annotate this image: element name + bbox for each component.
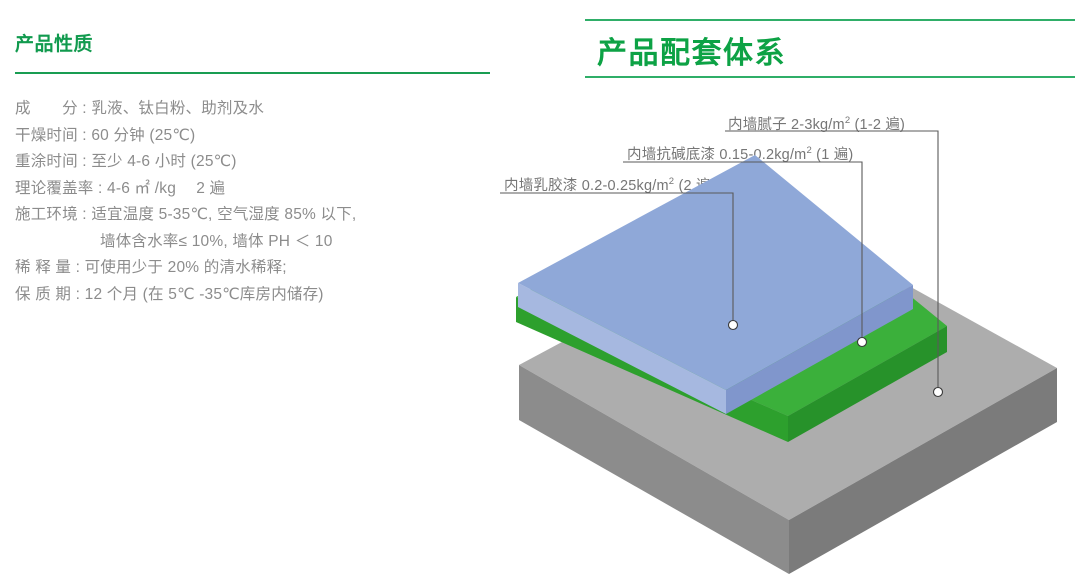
annotation-label-putty: 内墙腻子 2-3kg/m2 (1-2 遍) xyxy=(728,113,905,134)
annotation-latex-coats: (2 遍) xyxy=(674,178,715,194)
left-panel-heading: 产品性质 xyxy=(15,29,93,56)
right-panel-heading: 产品配套体系 xyxy=(597,28,786,72)
spec-line-drying-time: 干燥时间 : 60 分钟 (25℃) xyxy=(15,123,515,150)
annotation-primer-coats: (1 遍) xyxy=(812,147,853,163)
spec-line-composition: 成 分 : 乳液、钛白粉、助剂及水 xyxy=(15,96,515,123)
annotation-primer-text: 内墙抗碱底漆 0.15-0.2kg/m xyxy=(627,147,806,163)
annotation-latex-text: 内墙乳胶漆 0.2-0.25kg/m xyxy=(504,178,669,194)
product-spec-list: 成 分 : 乳液、钛白粉、助剂及水 干燥时间 : 60 分钟 (25℃) 重涂时… xyxy=(15,96,515,308)
annotation-putty-text: 内墙腻子 2-3kg/m xyxy=(728,117,845,133)
spec-line-application-env: 施工环境 : 适宜温度 5-35℃, 空气湿度 85% 以下, xyxy=(15,202,515,229)
annotation-putty-coats: (1-2 遍) xyxy=(850,117,905,133)
spec-line-coverage-rate: 理论覆盖率 : 4-6 ㎡ /kg 2 遍 xyxy=(15,176,515,203)
product-system-panel: 产品配套体系 xyxy=(540,0,1080,575)
right-heading-rule-top xyxy=(585,19,1075,21)
spec-line-recoat-time: 重涂时间 : 至少 4-6 小时 (25℃) xyxy=(15,149,515,176)
left-heading-divider xyxy=(15,72,490,74)
spec-line-shelf-life: 保 质 期 : 12 个月 (在 5℃ -35℃库房内储存) xyxy=(15,282,515,309)
spec-line-application-env-cont: 墙体含水率≤ 10%, 墙体 PH ＜ 10 xyxy=(15,229,515,256)
annotation-label-latex-paint: 内墙乳胶漆 0.2-0.25kg/m2 (2 遍) xyxy=(504,174,716,195)
annotation-label-alkali-primer: 内墙抗碱底漆 0.15-0.2kg/m2 (1 遍) xyxy=(627,143,853,164)
product-properties-panel: 产品性质 成 分 : 乳液、钛白粉、助剂及水 干燥时间 : 60 分钟 (25℃… xyxy=(0,0,540,575)
right-heading-rule-bottom xyxy=(585,76,1075,78)
spec-line-dilution: 稀 释 量 : 可使用少于 20% 的清水稀释; xyxy=(15,255,515,282)
